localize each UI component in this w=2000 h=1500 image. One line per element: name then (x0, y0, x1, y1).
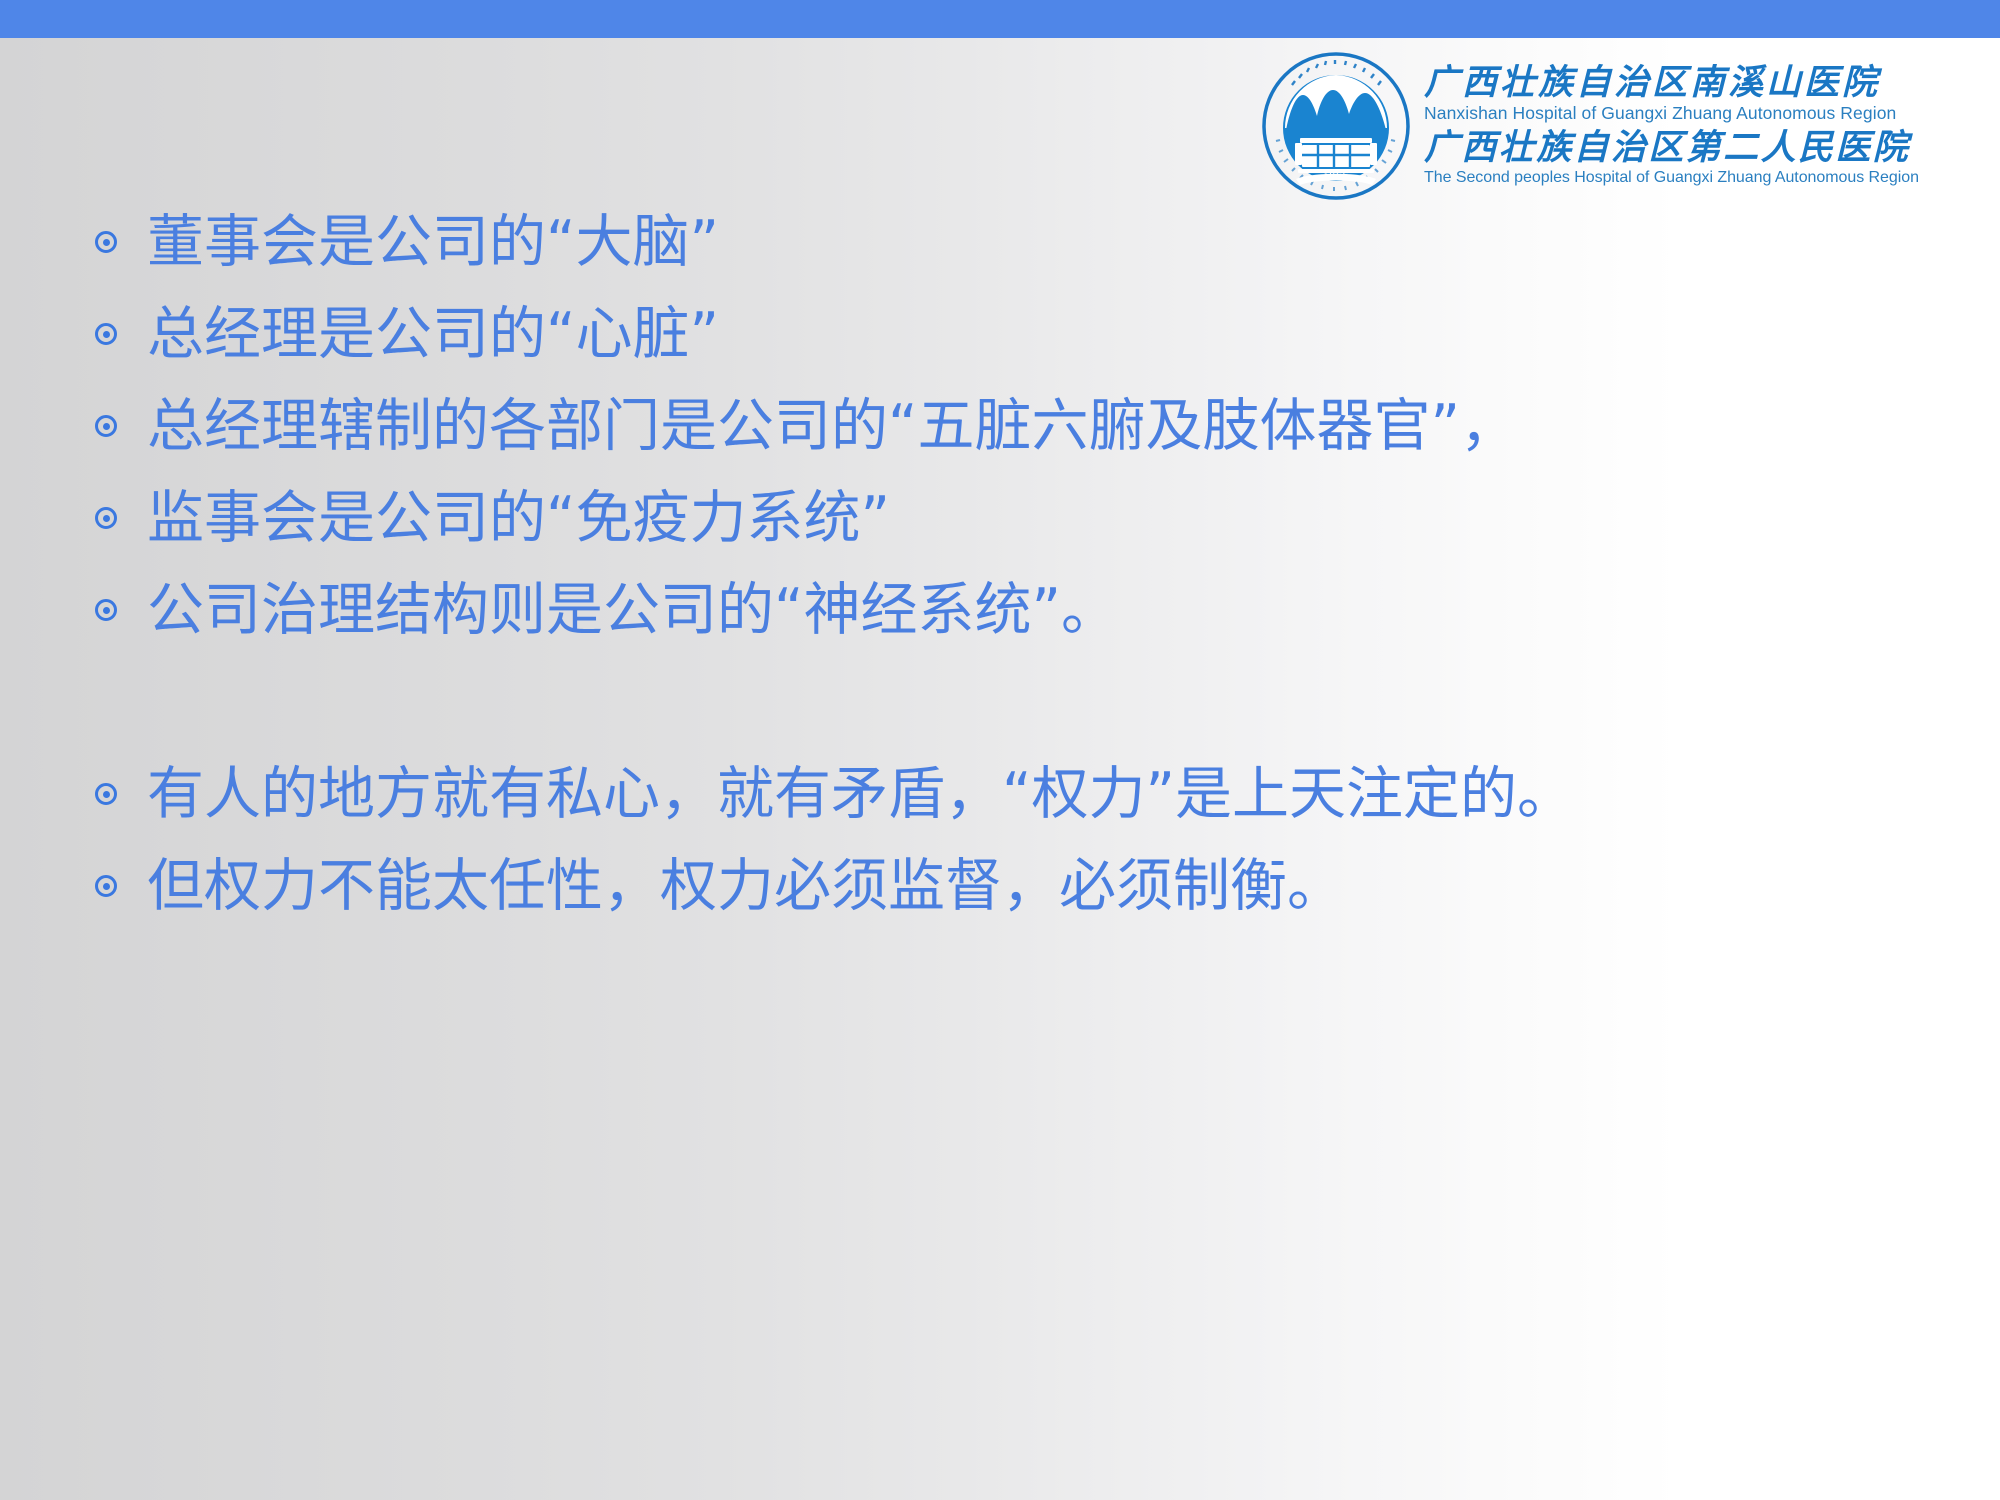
list-item: 总经理是公司的“心脏” (95, 288, 1965, 380)
hospital-name-en-2: The Second peoples Hospital of Guangxi Z… (1424, 168, 1919, 188)
hospital-name-cn-2: 广西壮族自治区第二人民医院 (1424, 128, 1919, 167)
hospital-logo: 1966 广西壮族自治区南溪山医院 Nanxishan Hospital of … (1262, 52, 1919, 200)
hospital-logo-text: 广西壮族自治区南溪山医院 Nanxishan Hospital of Guang… (1424, 61, 1919, 191)
circled-dot-bullet-icon (95, 564, 147, 656)
bullet-list: 董事会是公司的“大脑” 总经理是公司的“心脏” 总经理辖制的各部门是公司的“五脏… (95, 196, 1965, 932)
list-item: 总经理辖制的各部门是公司的“五脏六腑及肢体器官”， (95, 380, 1965, 472)
list-item-text: 监事会是公司的“免疫力系统” (147, 472, 890, 564)
list-item: 但权力不能太任性，权力必须监督，必须制衡。 (95, 840, 1965, 932)
list-item-text: 公司治理结构则是公司的“神经系统”。 (147, 564, 1118, 656)
hospital-name-en-1: Nanxishan Hospital of Guangxi Zhuang Aut… (1424, 103, 1919, 125)
circled-dot-bullet-icon (95, 288, 147, 380)
circled-dot-bullet-icon (95, 840, 147, 932)
svg-text:1966: 1966 (1323, 170, 1349, 182)
list-item: 公司治理结构则是公司的“神经系统”。 (95, 564, 1965, 656)
circled-dot-bullet-icon (95, 472, 147, 564)
circled-dot-bullet-icon (95, 748, 147, 840)
list-item-text: 有人的地方就有私心，就有矛盾，“权力”是上天注定的。 (147, 748, 1574, 840)
list-item-text: 总经理是公司的“心脏” (147, 288, 719, 380)
list-spacer (95, 656, 1965, 748)
list-item-text: 董事会是公司的“大脑” (147, 196, 719, 288)
list-item: 董事会是公司的“大脑” (95, 196, 1965, 288)
hospital-seal-icon: 1966 (1262, 52, 1410, 200)
circled-dot-bullet-icon (95, 196, 147, 288)
list-item-text: 但权力不能太任性，权力必须监督，必须制衡。 (147, 840, 1344, 932)
list-item: 有人的地方就有私心，就有矛盾，“权力”是上天注定的。 (95, 748, 1965, 840)
list-item-text: 总经理辖制的各部门是公司的“五脏六腑及肢体器官”， (147, 380, 1517, 472)
circled-dot-bullet-icon (95, 380, 147, 472)
slide-top-accent-bar (0, 0, 2000, 38)
empty-bullet-slot (95, 656, 147, 748)
presentation-slide: 1966 广西壮族自治区南溪山医院 Nanxishan Hospital of … (0, 0, 2000, 1500)
list-item: 监事会是公司的“免疫力系统” (95, 472, 1965, 564)
hospital-name-cn-1: 广西壮族自治区南溪山医院 (1424, 63, 1919, 102)
